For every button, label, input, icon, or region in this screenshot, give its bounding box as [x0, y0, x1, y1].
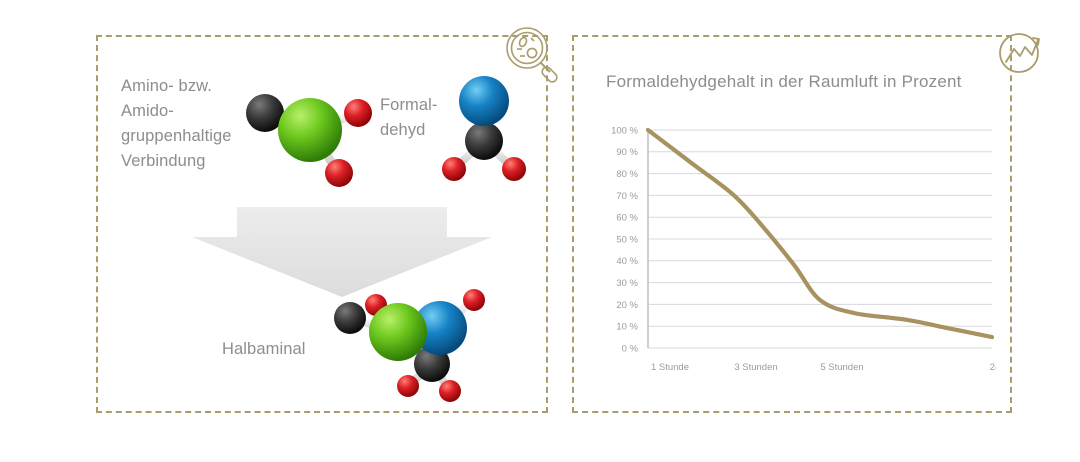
chart-title: Formaldehydgehalt in der Raumluft in Pro…: [606, 72, 962, 92]
trend-chart-icon: [988, 22, 1054, 88]
magnifier-molecule-icon: [500, 22, 566, 88]
y-axis-tick-label: 30 %: [616, 278, 638, 289]
x-axis-tick-label: 3 Stunden: [734, 362, 777, 373]
reactant-a-label: Amino- bzw. Amido- gruppenhaltige Verbin…: [121, 74, 281, 174]
y-axis-tick-label: 60 %: [616, 213, 638, 224]
x-axis-tick-label: 1 Stunde: [651, 362, 689, 373]
y-axis-tick-label: 90 %: [616, 147, 638, 158]
y-axis-tick-label: 10 %: [616, 322, 638, 333]
y-axis-tick-label: 40 %: [616, 256, 638, 267]
y-axis-tick-label: 100 %: [611, 125, 638, 136]
chart-line-series: [648, 130, 992, 337]
y-axis-tick-label: 20 %: [616, 300, 638, 311]
y-axis-tick-label: 0 %: [622, 343, 639, 354]
y-axis-tick-label: 50 %: [616, 234, 638, 245]
line-chart: 100 %90 %80 %70 %60 %50 %40 %30 %20 %10 …: [596, 120, 996, 385]
reactant-b-label: Formal- dehyd: [380, 93, 490, 143]
y-axis-tick-label: 80 %: [616, 169, 638, 180]
x-axis-tick-label: 5 Stunden: [820, 362, 863, 373]
y-axis-tick-label: 70 %: [616, 191, 638, 202]
x-axis-tick-label: 24 Stunden: [990, 362, 996, 373]
product-label: Halbaminal: [222, 337, 382, 362]
